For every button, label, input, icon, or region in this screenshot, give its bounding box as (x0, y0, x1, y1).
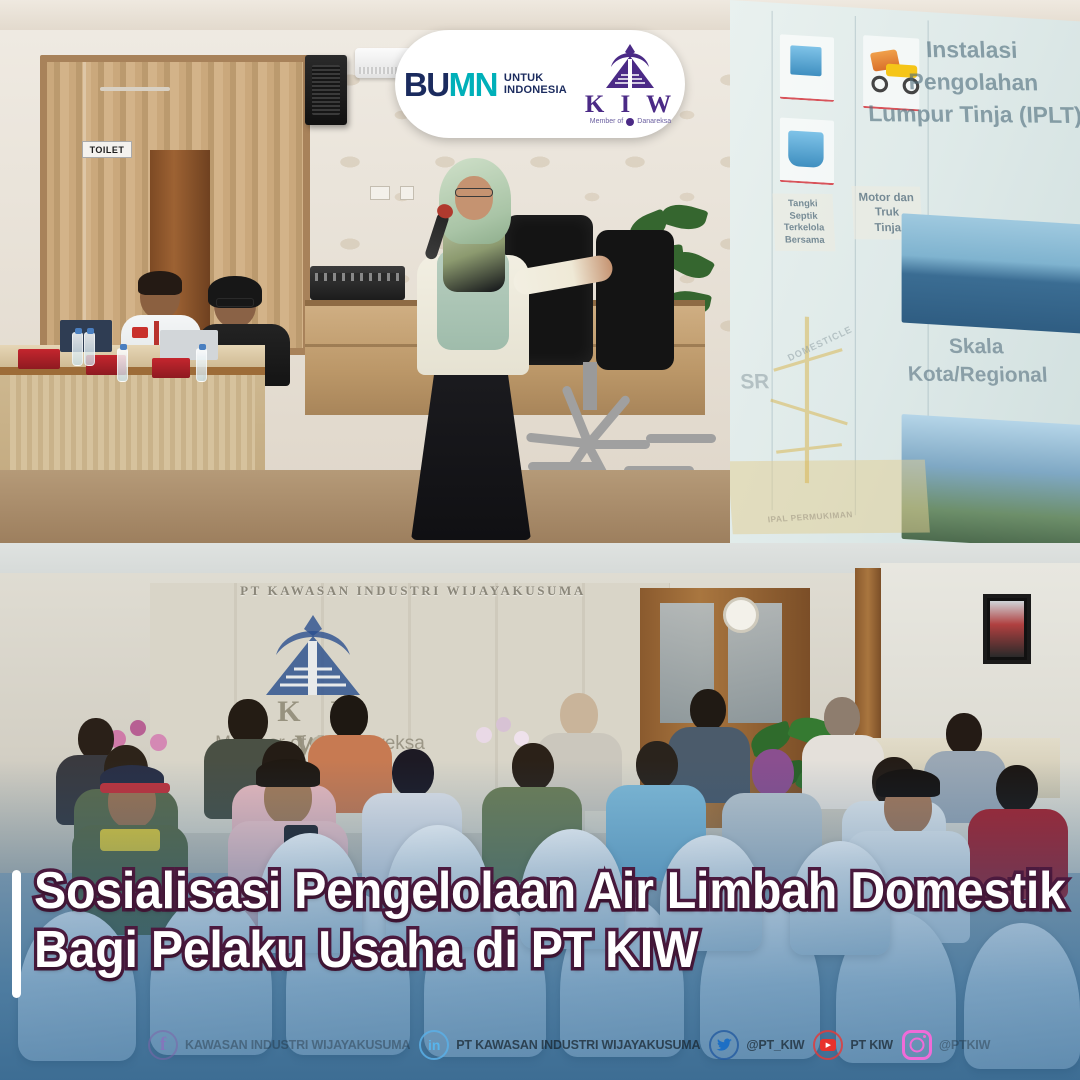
bumn-tagline-l1: UNTUK (504, 72, 567, 84)
wall-speaker (305, 55, 347, 125)
bumn-mark-right: MN (449, 66, 497, 103)
company-wall-sign: PT KAWASAN INDUSTRI WIJAYAKUSUMA (178, 583, 648, 599)
gift-box-3 (152, 358, 190, 378)
light-switch (370, 186, 390, 200)
title-line-1: Sosialisasi Pengelolaan Air Limbah Domes… (34, 862, 1007, 921)
wall-clock-icon (723, 597, 759, 633)
title-line-2: Bagi Pelaku Usaha di PT KIW (34, 921, 1007, 980)
poster-title: Sosialisasi Pengelolaan Air Limbah Domes… (0, 862, 1080, 980)
logo-badge: BUMN UNTUK INDONESIA K I W Member of Dan… (395, 30, 685, 138)
slide-label-tank-l2: Terkelola Bersama (784, 222, 825, 245)
toilet-sign: TOILET (82, 141, 132, 158)
laptop-2 (160, 330, 218, 360)
kiw-member-brand: Danareksa (637, 118, 671, 125)
social-footer: f KAWASAN INDUSTRI WIJAYAKUSUMA in PT KA… (0, 1024, 1080, 1066)
facebook-icon[interactable]: f (148, 1030, 178, 1060)
kiw-member-text: Member of (590, 118, 623, 125)
ceiling-fan-icon (100, 82, 170, 96)
bumn-mark-left: BU (404, 66, 449, 103)
gift-box-1 (18, 349, 60, 369)
presenter-skirt (411, 350, 531, 540)
kiw-logo: K I W Member of Danareksa (585, 43, 676, 126)
glasses-icon (455, 188, 493, 197)
slide-heading: Instalasi Pengolahan Lumpur Tinja (IPLT) (857, 33, 1080, 133)
linkedin-handle: PT KAWASAN INDUSTRI WIJAYAKUSUMA (456, 1038, 700, 1052)
bumn-logo: BUMN UNTUK INDONESIA (404, 68, 567, 101)
presenter-speaker (395, 150, 595, 540)
wall-kiw-emblem-icon (258, 613, 368, 699)
presenter-face (455, 176, 493, 220)
danareksa-icon (626, 118, 634, 126)
facebook-glyph: f (160, 1034, 166, 1056)
office-chair-back-2 (596, 230, 674, 370)
bumn-tagline: UNTUK INDONESIA (504, 72, 567, 97)
framed-portrait (983, 594, 1031, 664)
slide-heading-l2: Pengolahan (858, 65, 1080, 100)
social-item-youtube[interactable]: ▶ PT KIW (813, 1030, 893, 1060)
water-bottle-3 (117, 348, 128, 382)
social-item-twitter[interactable]: @PT_KIW (709, 1030, 804, 1060)
slide-sr-label: SR (740, 371, 771, 395)
twitter-bird-glyph (716, 1038, 733, 1053)
slide-label-tank: Tangki Septik Terkelola Bersama (772, 193, 835, 251)
social-item-instagram[interactable]: @PTKIW (902, 1030, 990, 1060)
twitter-handle: @PT_KIW (746, 1038, 804, 1052)
poster-canvas: TOILET (0, 0, 1080, 1080)
linkedin-glyph: in (428, 1037, 440, 1053)
youtube-play-glyph: ▶ (820, 1039, 836, 1051)
facebook-handle: KAWASAN INDUSTRI WIJAYAKUSUMA (185, 1038, 410, 1052)
twitter-icon[interactable] (709, 1030, 739, 1060)
water-bottle-1 (72, 332, 83, 366)
instagram-icon[interactable] (902, 1030, 932, 1060)
floor (0, 470, 760, 543)
title-accent-bar (12, 870, 21, 998)
kiw-member-line: Member of Danareksa (590, 118, 671, 126)
slide-photo-iplt (902, 213, 1080, 333)
slide-label-truck-l2: Tinja (874, 221, 901, 234)
slide-heading-l1: Instalasi (857, 33, 1080, 68)
slide-skala: Skala Kota/Regional (890, 333, 1064, 391)
slide-skala-l2: Kota/Regional (891, 361, 1064, 391)
youtube-icon[interactable]: ▶ (813, 1030, 843, 1060)
projection-screen: Tangki Septik Terkelola Bersama Motor da… (730, 0, 1080, 543)
water-bottle-2 (84, 332, 95, 366)
kiw-wordmark: K I W (585, 92, 676, 117)
slide-heading-l3: Lumpur Tinja (IPLT) (860, 98, 1080, 133)
bumn-tagline-l2: INDONESIA (504, 84, 567, 96)
slide-skala-l1: Skala (890, 333, 1063, 363)
youtube-handle: PT KIW (850, 1038, 893, 1052)
instagram-handle: @PTKIW (939, 1038, 990, 1052)
linkedin-icon[interactable]: in (419, 1030, 449, 1060)
slide-label-tank-l1: Tangki Septik (788, 198, 818, 221)
kiw-emblem-icon (602, 43, 658, 91)
audio-mixer (310, 266, 405, 300)
social-item-linkedin[interactable]: in PT KAWASAN INDUSTRI WIJAYAKUSUMA (419, 1030, 700, 1060)
social-item-facebook[interactable]: f KAWASAN INDUSTRI WIJAYAKUSUMA (148, 1030, 410, 1060)
bumn-wordmark: BUMN (404, 68, 497, 101)
water-bottle-4 (196, 348, 207, 382)
